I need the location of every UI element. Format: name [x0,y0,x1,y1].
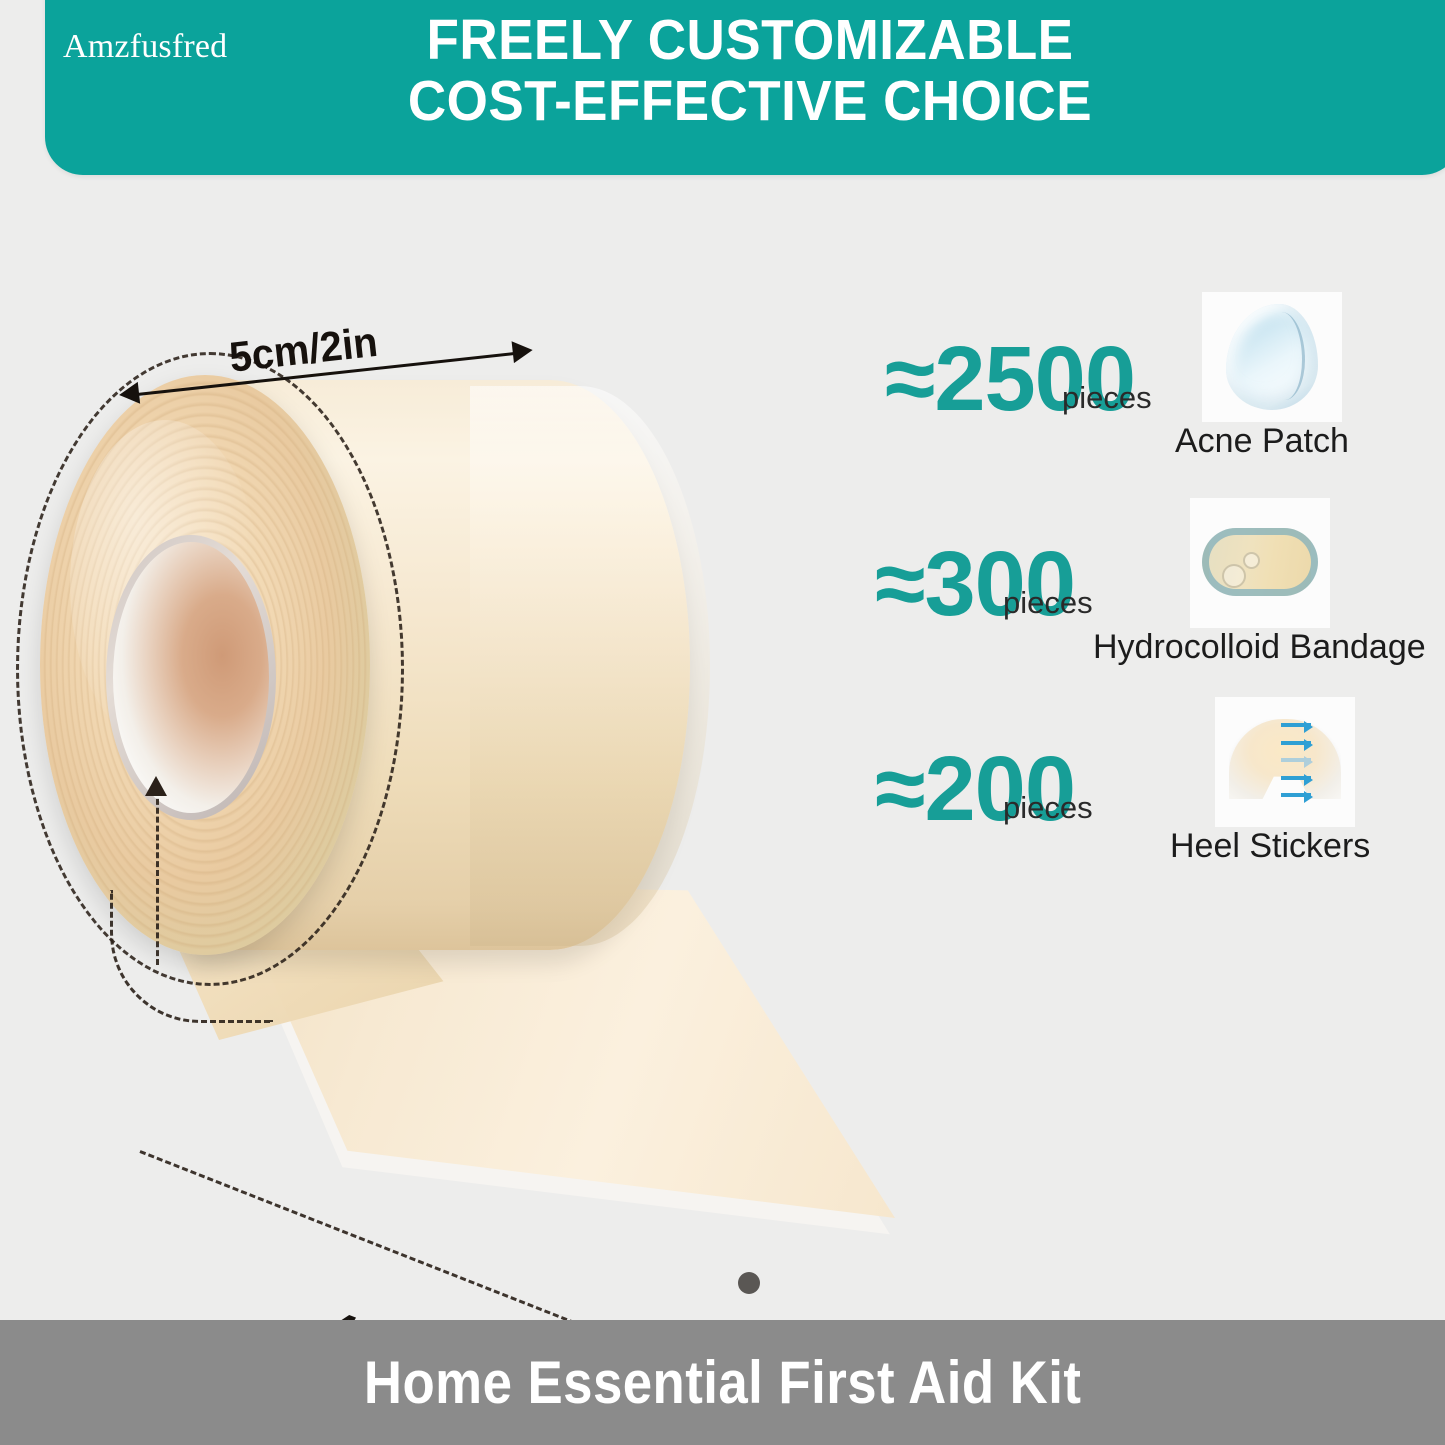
acne-patch-icon [1202,292,1342,422]
footer-bar: Home Essential First Aid Kit [0,1320,1445,1445]
bandage-pill-shape [1202,528,1318,596]
width-arrow-left-icon [118,382,140,406]
tape-roll-body-shading [470,386,710,946]
arrow-right-icon [1281,741,1311,745]
stat-label: Acne Patch [1175,422,1349,461]
length-dimension-endpoint-dot [738,1272,760,1294]
headline-line-2: COST-EFFECTIVE CHOICE [308,71,1192,132]
roll-radius-dashed-curve [110,890,273,1023]
stat-row-acne-patch: ≈2500 pieces Acne Patch [715,285,1445,490]
yield-stats-list: ≈2500 pieces Acne Patch ≈300 pieces Hydr… [715,285,1445,900]
arrow-right-icon [1281,723,1311,727]
roll-radius-arrow-icon [145,776,167,796]
headline-line-1: FREELY CUSTOMIZABLE [308,10,1192,71]
hydrocolloid-bandage-icon [1190,498,1330,628]
stat-unit: pieces [1003,790,1093,826]
bandage-bubble-large [1222,564,1246,588]
bandage-bubble-small [1243,552,1260,569]
arrow-right-icon [1281,776,1311,780]
stat-row-hydrocolloid-bandage: ≈300 pieces Hydrocolloid Bandage [715,490,1445,695]
header-banner: Amzfusfred FREELY CUSTOMIZABLE COST-EFFE… [45,0,1445,175]
arrow-right-icon [1281,758,1311,762]
brand-logo: Amzfusfred [63,28,227,66]
stat-label: Hydrocolloid Bandage [1093,628,1426,667]
stat-label: Heel Stickers [1170,827,1370,866]
width-arrow-right-icon [512,339,534,363]
stat-row-heel-stickers: ≈200 pieces Heel Stickers [715,695,1445,900]
arrow-right-icon [1281,793,1311,797]
header-headline: FREELY CUSTOMIZABLE COST-EFFECTIVE CHOIC… [275,10,1225,132]
product-infographic: Amzfusfred FREELY CUSTOMIZABLE COST-EFFE… [0,0,1445,1445]
heel-sticker-arrows [1281,723,1317,797]
footer-title: Home Essential First Aid Kit [364,1348,1081,1417]
stat-unit: pieces [1062,380,1152,416]
heel-sticker-icon [1215,697,1355,827]
roll-radius-dashed-line [156,790,159,965]
stat-unit: pieces [1003,585,1093,621]
